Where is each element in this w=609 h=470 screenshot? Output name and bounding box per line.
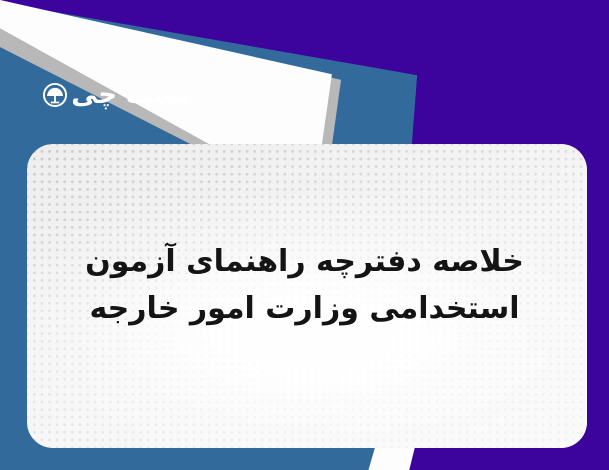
brand-wordmark: پست چی (71, 82, 192, 108)
circle-dome-emblem-icon (42, 82, 68, 108)
page-title: خلاصه دفترچه راهنمای آزمون استخدامی وزار… (0, 238, 609, 333)
title-line-2: استخدامی وزارت امور خارجه (0, 285, 609, 332)
title-line-1: خلاصه دفترچه راهنمای آزمون (0, 238, 609, 285)
poster-canvas: پست چی خلاصه دفترچه راهنمای آزمون استخدا… (0, 0, 609, 470)
brand-logo: پست چی (42, 82, 190, 108)
